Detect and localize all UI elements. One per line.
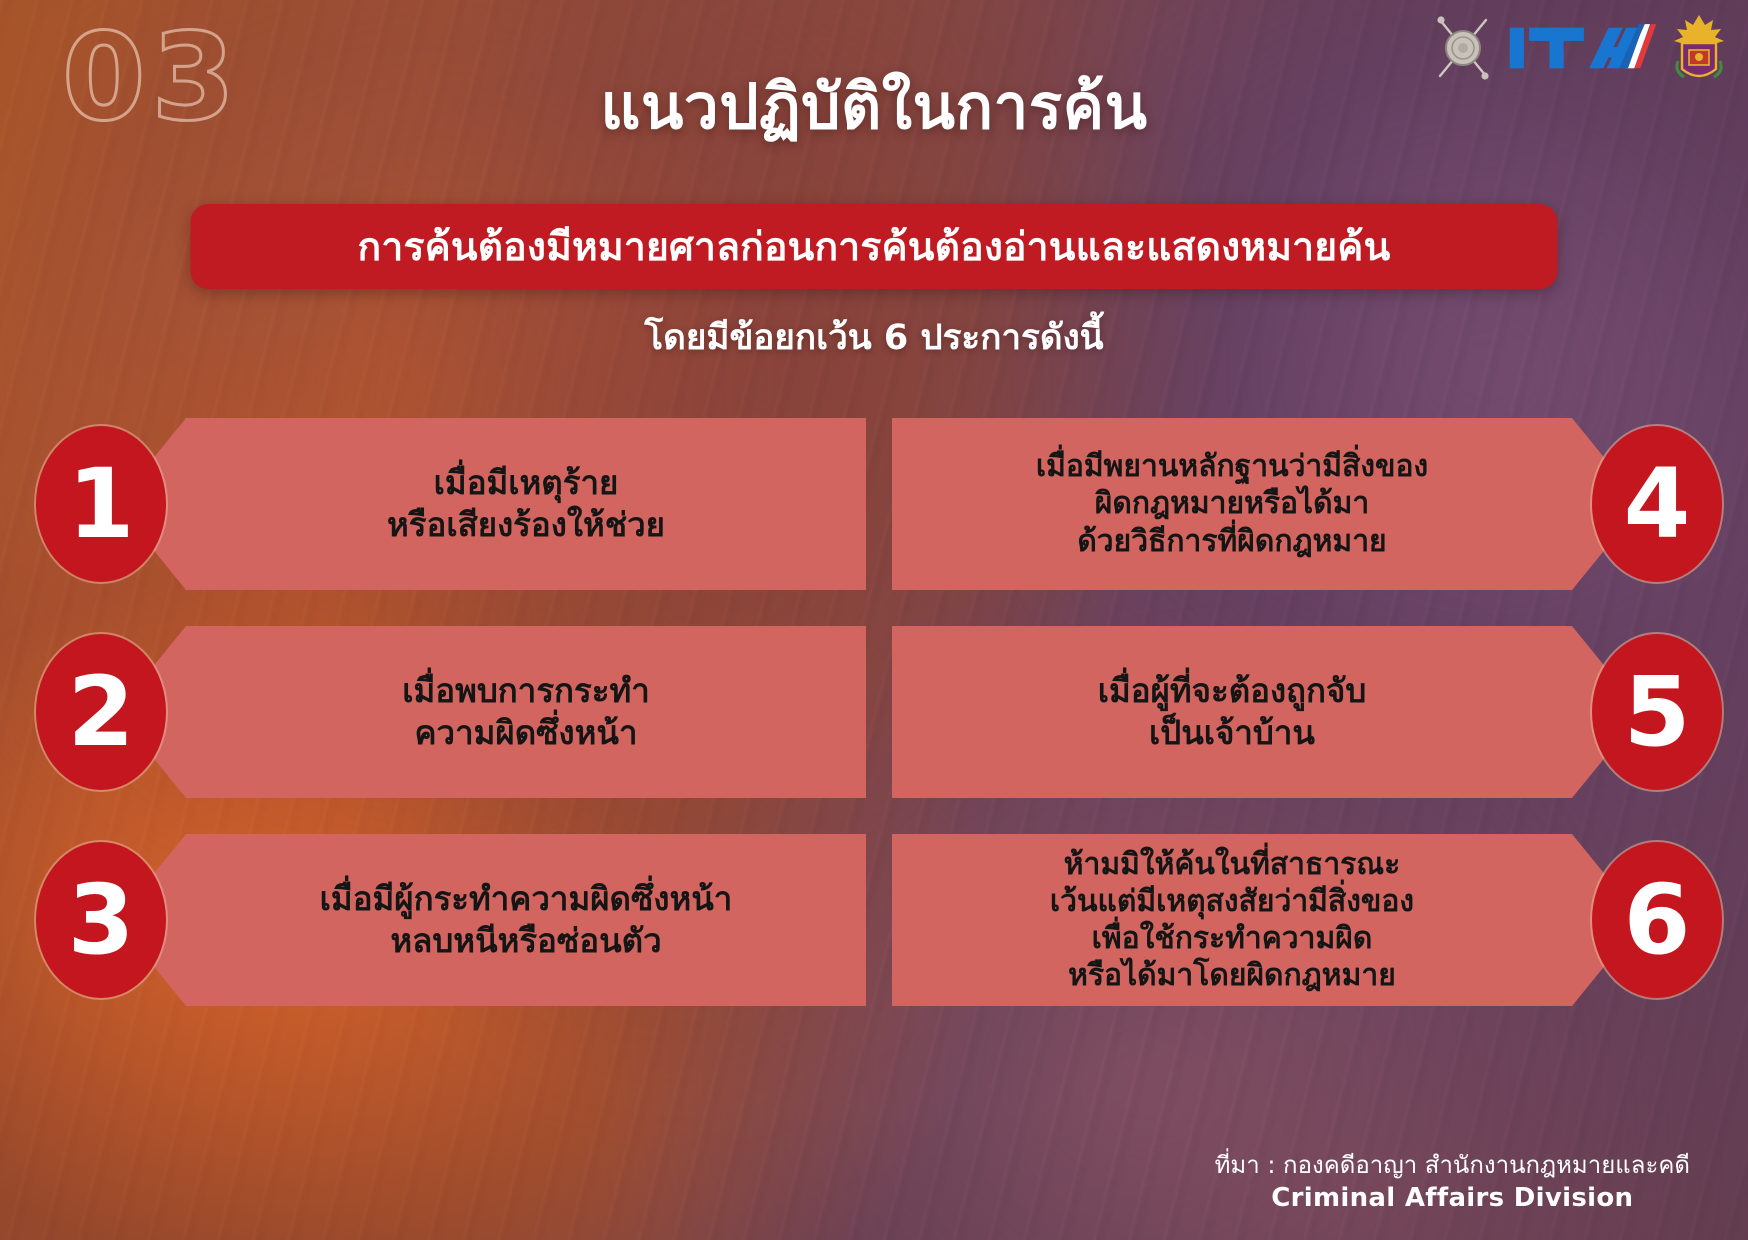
exception-item-2: 2 เมื่อพบการกระทำ ความผิดซึ่งหน้า [40,608,866,816]
exception-badge-4: 4 [1596,430,1718,578]
chakri-emblem-icon [1432,12,1494,84]
exception-item-4: 4 เมื่อมีพยานหลักฐานว่ามีสิ่งของ ผิดกฎหม… [892,400,1718,608]
ita-logo [1508,20,1658,76]
exception-text-4: เมื่อมีพยานหลักฐานว่ามีสิ่งของ ผิดกฎหมาย… [1036,448,1428,560]
exception-text-5: เมื่อผู้ที่จะต้องถูกจับ เป็นเจ้าบ้าน [1098,670,1367,754]
exception-arrow-5: เมื่อผู้ที่จะต้องถูกจับ เป็นเจ้าบ้าน [892,626,1642,798]
exception-grid: 1 เมื่อมีเหตุร้าย หรือเสียงร้องให้ช่วย 2… [40,400,1718,1024]
exception-text-2: เมื่อพบการกระทำ ความผิดซึ่งหน้า [402,670,650,754]
main-banner: การค้นต้องมีหมายศาลก่อนการค้นต้องอ่านและ… [191,204,1558,289]
exception-item-6: 6 ห้ามมิให้ค้นในที่สาธารณะ เว้นแต่มีเหตุ… [892,816,1718,1024]
exception-badge-2: 2 [40,638,162,786]
exception-badge-5: 5 [1596,638,1718,786]
exception-text-1: เมื่อมีเหตุร้าย หรือเสียงร้องให้ช่วย [387,462,665,546]
garuda-emblem-icon [1672,13,1726,83]
banner-text: การค้นต้องมีหมายศาลก่อนการค้นต้องอ่านและ… [358,216,1391,278]
infographic-poster: 03 แนวปฏิบัติในการค้น [0,0,1748,1240]
exception-arrow-2: เมื่อพบการกระทำ ความผิดซึ่งหน้า [116,626,866,798]
exception-item-1: 1 เมื่อมีเหตุร้าย หรือเสียงร้องให้ช่วย [40,400,866,608]
exception-text-6: ห้ามมิให้ค้นในที่สาธารณะ เว้นแต่มีเหตุสง… [1050,846,1414,995]
exception-arrow-4: เมื่อมีพยานหลักฐานว่ามีสิ่งของ ผิดกฎหมาย… [892,418,1642,590]
exception-item-3: 3 เมื่อมีผู้กระทำความผิดซึ่งหน้า หลบหนีห… [40,816,866,1024]
exception-column-left: 1 เมื่อมีเหตุร้าย หรือเสียงร้องให้ช่วย 2… [40,400,866,1024]
exception-text-3: เมื่อมีผู้กระทำความผิดซึ่งหน้า หลบหนีหรื… [320,878,733,962]
exception-arrow-1: เมื่อมีเหตุร้าย หรือเสียงร้องให้ช่วย [116,418,866,590]
footer-source-text: ที่มา : กองคดีอาญา สำนักงานกฎหมายและคดี [1215,1149,1690,1181]
logo-row [1432,8,1726,88]
exception-arrow-3: เมื่อมีผู้กระทำความผิดซึ่งหน้า หลบหนีหรื… [116,834,866,1006]
exception-item-5: 5 เมื่อผู้ที่จะต้องถูกจับ เป็นเจ้าบ้าน [892,608,1718,816]
exception-column-right: 4 เมื่อมีพยานหลักฐานว่ามีสิ่งของ ผิดกฎหม… [892,400,1718,1024]
exception-badge-6: 6 [1596,846,1718,994]
exception-arrow-6: ห้ามมิให้ค้นในที่สาธารณะ เว้นแต่มีเหตุสง… [892,834,1642,1006]
subtitle: โดยมีข้อยกเว้น 6 ประการดังนี้ [0,310,1748,365]
exception-badge-3: 3 [40,846,162,994]
footer-division-en: Criminal Affairs Division [1215,1181,1690,1216]
exception-badge-1: 1 [40,430,162,578]
footer: ที่มา : กองคดีอาญา สำนักงานกฎหมายและคดี … [1215,1149,1690,1216]
